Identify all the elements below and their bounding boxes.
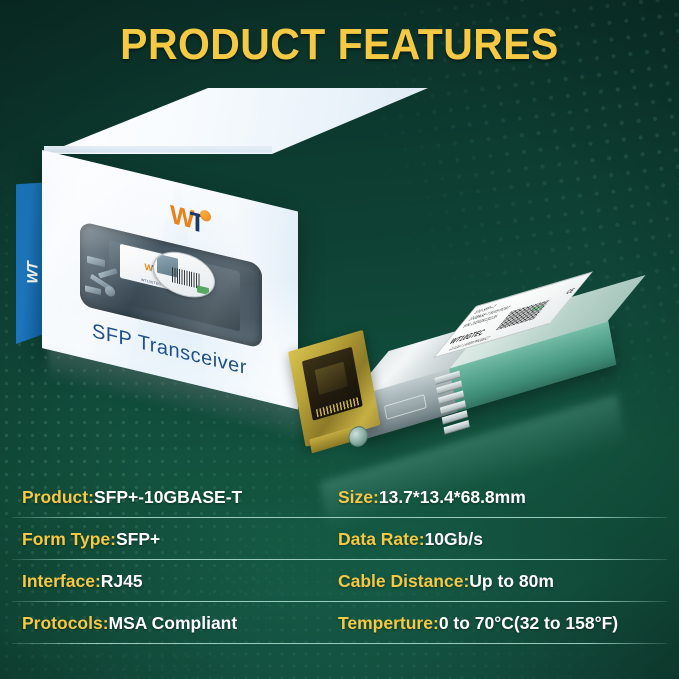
rj45-connector	[288, 330, 380, 447]
box-top-edge	[28, 146, 428, 158]
spec-cell-left: Protocols:MSA Compliant	[22, 613, 237, 634]
product-features-banner: PRODUCT FEATURES WT W T	[0, 0, 679, 679]
spec-cell-right: Temperture:0 to 70°C(32 to 158°F)	[338, 613, 618, 634]
spec-key: Form Type	[22, 529, 110, 549]
spine-wt-logo: WT	[25, 261, 42, 286]
spec-key: Protocols	[22, 613, 103, 633]
spec-key: Size	[338, 487, 373, 507]
spec-cell-right: Data Rate:10Gb/s	[338, 529, 483, 550]
spec-key: Data Rate	[338, 529, 419, 549]
spec-value: MSA Compliant	[109, 613, 238, 633]
sfp-transceiver-module: 10G-SFP+-T 10GBASE-T RJ45 PORT S/N: 2024…	[288, 298, 674, 478]
spec-key: Product	[22, 487, 88, 507]
specifications-table: Product:SFP+-10GBASE-T Size:13.7*13.4*68…	[0, 476, 679, 644]
box-top-face	[28, 88, 428, 154]
spec-key: Temperture	[338, 613, 433, 633]
spec-cell-left: Form Type:SFP+	[22, 529, 160, 550]
page-title: PRODUCT FEATURES	[24, 20, 655, 70]
spec-value: 0 to 70°C(32 to 158°F)	[439, 613, 618, 633]
spec-cell-left: Product:SFP+-10GBASE-T	[22, 487, 242, 508]
spec-value: Up to 80m	[469, 571, 554, 591]
spec-key: Cable Distance	[338, 571, 463, 591]
spec-divider	[12, 643, 667, 645]
spec-row: Protocols:MSA Compliant Temperture:0 to …	[0, 602, 679, 644]
spec-row: Interface:RJ45 Cable Distance:Up to 80m	[0, 560, 679, 602]
spec-cell-right: Cable Distance:Up to 80m	[338, 571, 554, 592]
spec-row: Form Type:SFP+ Data Rate:10Gb/s	[0, 518, 679, 560]
logo-letter-t-group: T	[190, 207, 210, 234]
spec-value: RJ45	[101, 571, 143, 591]
spec-value: 10Gb/s	[425, 529, 483, 549]
spec-value: 13.7*13.4*68.8mm	[379, 487, 526, 507]
spec-row: Product:SFP+-10GBASE-T Size:13.7*13.4*68…	[0, 476, 679, 518]
spec-value: SFP+	[116, 529, 160, 549]
spec-key: Interface	[22, 571, 95, 591]
spec-value: SFP+-10GBASE-T	[94, 487, 242, 507]
spec-cell-left: Interface:RJ45	[22, 571, 143, 592]
spec-cell-right: Size:13.7*13.4*68.8mm	[338, 487, 526, 508]
